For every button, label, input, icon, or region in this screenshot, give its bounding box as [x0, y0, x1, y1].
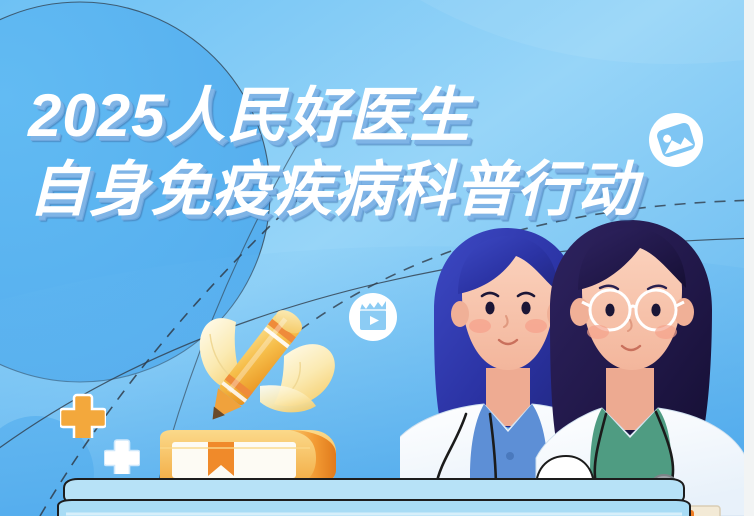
winged-pencil-and-book: [150, 290, 360, 505]
desk-surface: [56, 478, 692, 516]
plus-icon-orange: [60, 392, 106, 438]
poster-canvas: 2025人民好医生 自身免疫疾病科普行动: [0, 0, 754, 516]
doctors-illustration: [400, 218, 744, 516]
doctor-right: [536, 220, 744, 516]
plus-icon-white: [104, 438, 140, 474]
video-clapperboard-icon-badge[interactable]: [348, 292, 398, 342]
right-edge-strip: [744, 0, 754, 516]
image-icon-badge[interactable]: [648, 112, 704, 168]
